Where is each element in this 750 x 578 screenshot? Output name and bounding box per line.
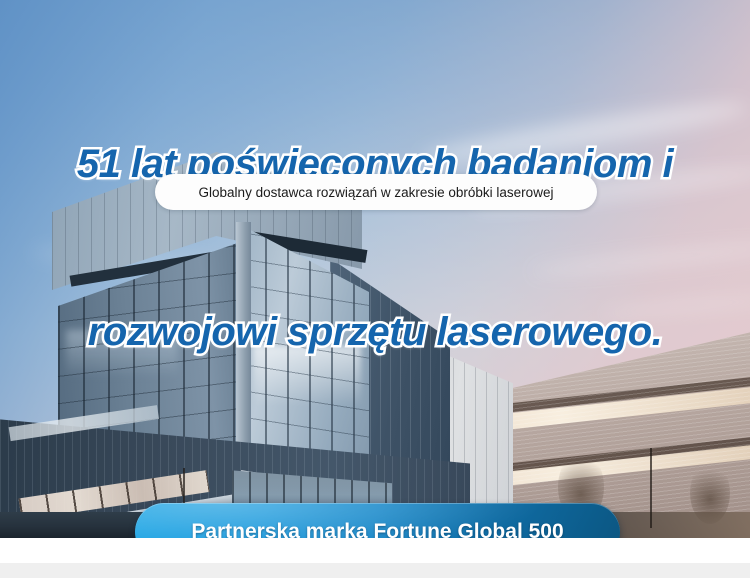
tree [690,462,730,524]
subtitle-pill-label: Globalny dostawca rozwiązań w zakresie o… [199,185,554,200]
hero-banner: 51 lat poświęconych badaniom i rozwojowi… [0,0,750,578]
page-white-strip [0,538,750,563]
hero-background-image [0,0,750,538]
page-gray-strip [0,563,750,578]
subtitle-pill: Globalny dostawca rozwiązań w zakresie o… [155,174,597,210]
light-pole [650,448,652,528]
